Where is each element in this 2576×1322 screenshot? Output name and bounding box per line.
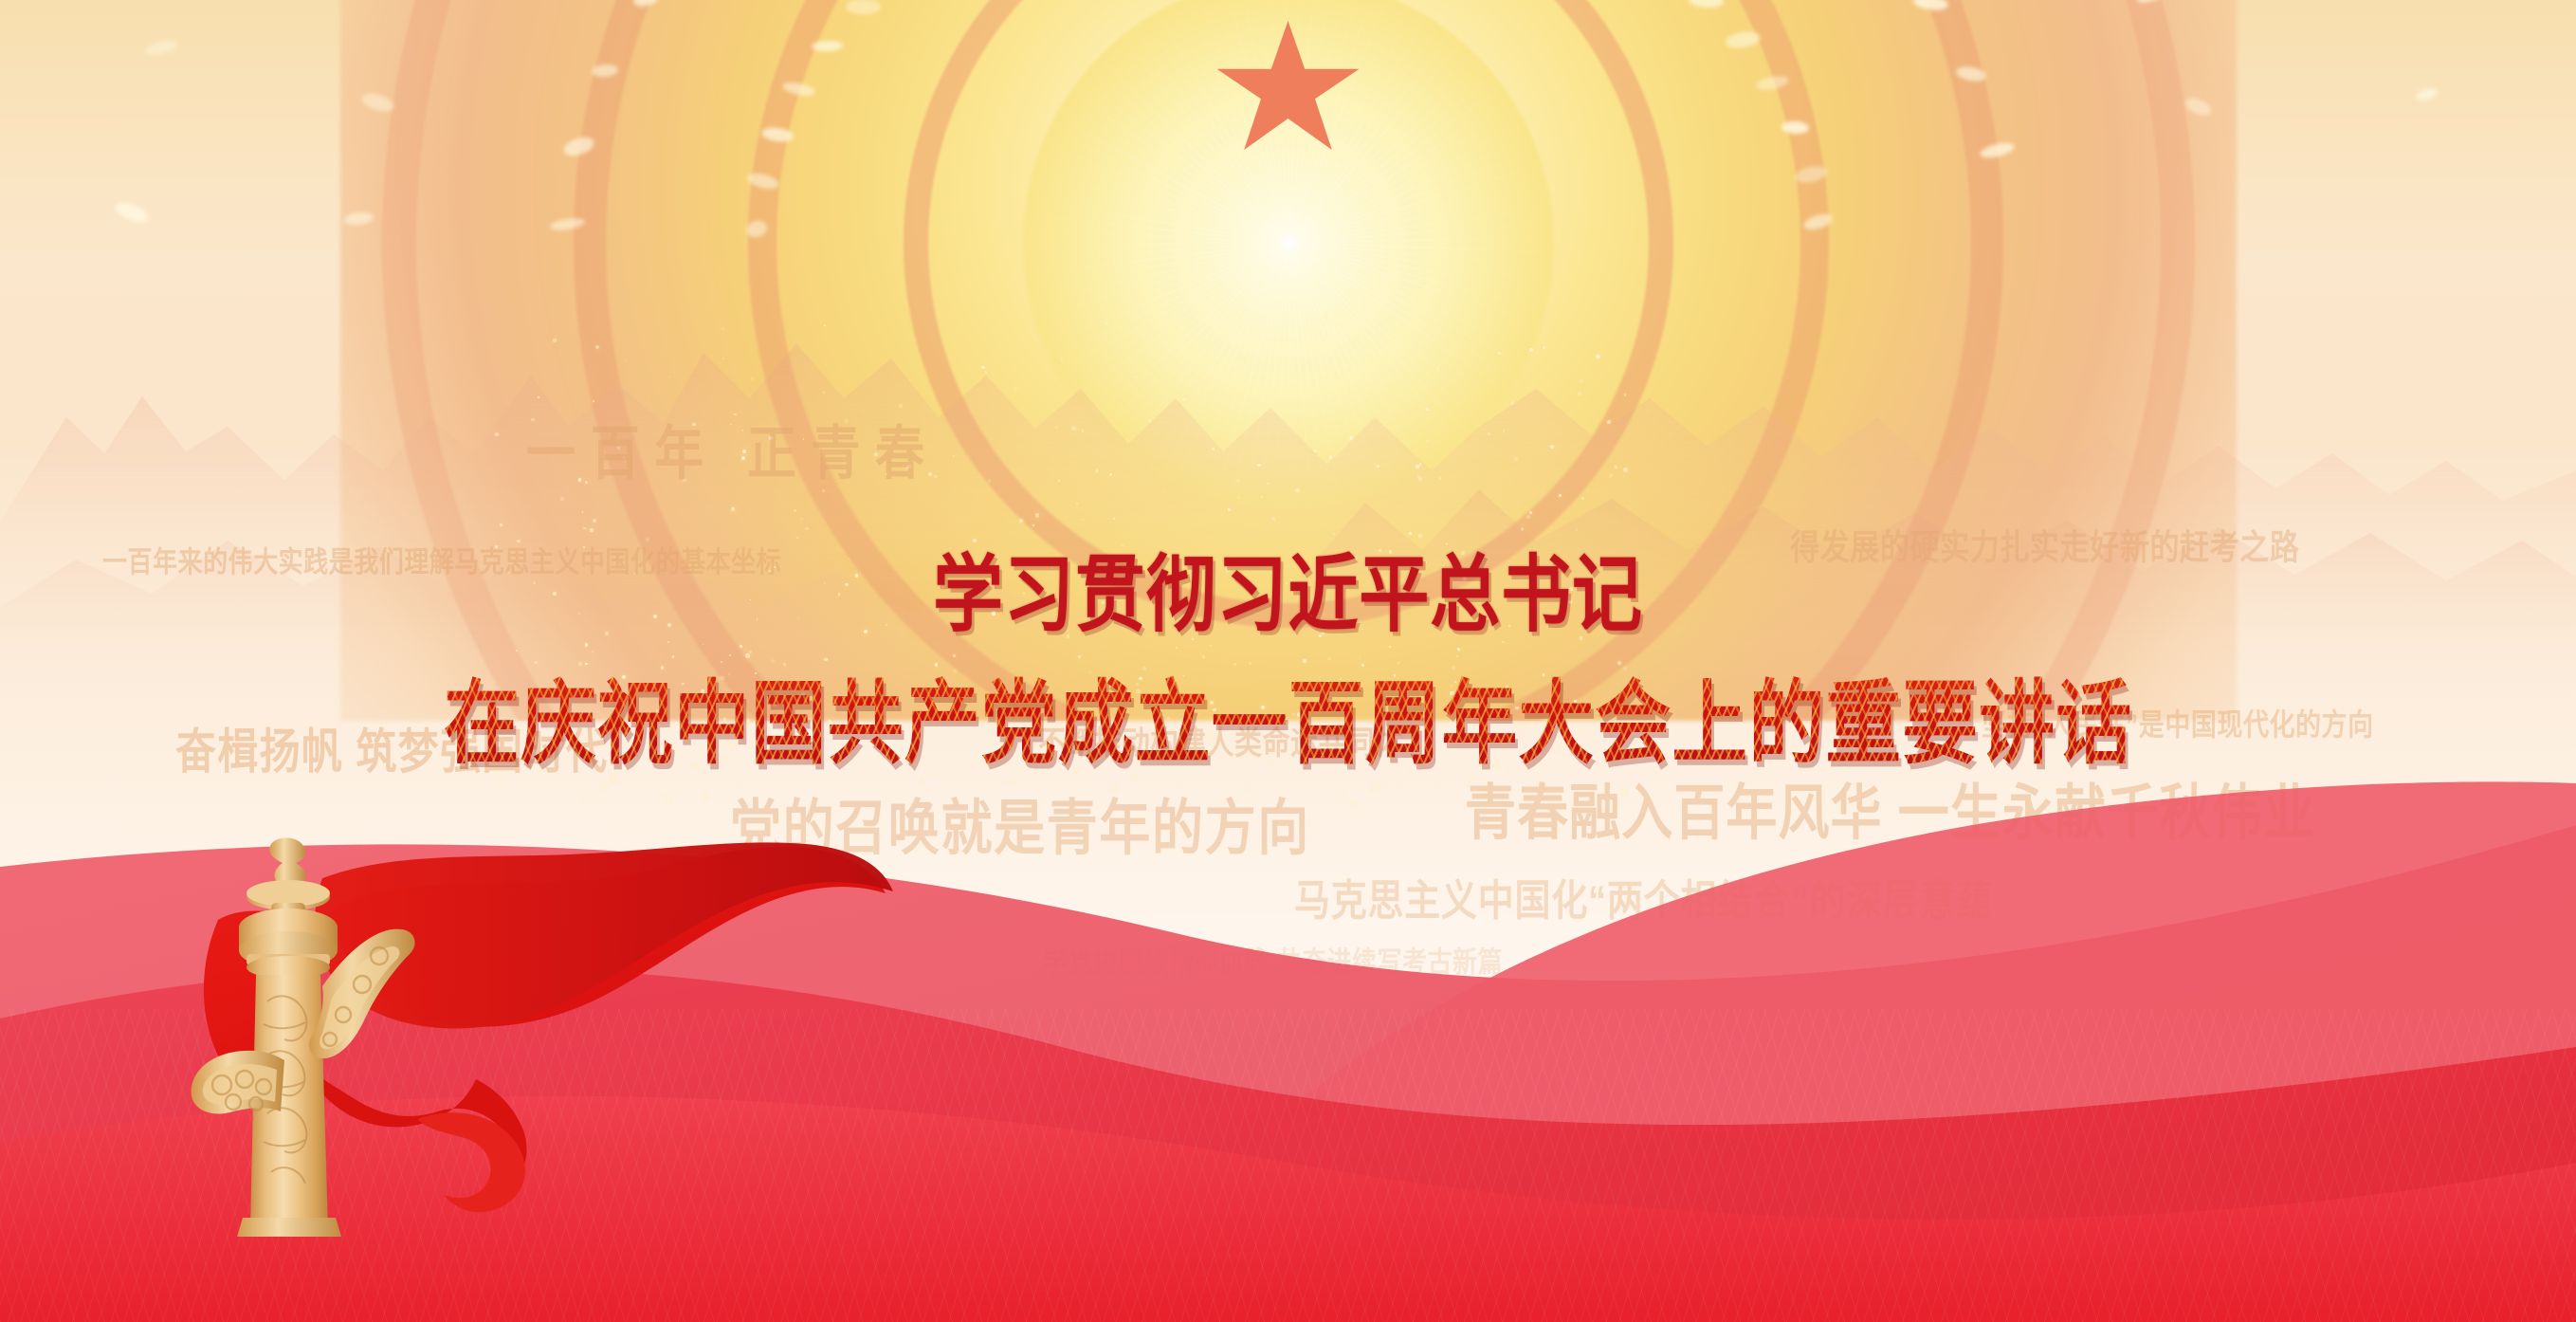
light-dot (360, 90, 396, 115)
huabiao-and-flag-emblem (180, 835, 901, 1242)
light-dot (744, 219, 769, 240)
light-dot (1793, 163, 1827, 185)
light-dot (760, 125, 795, 143)
light-dot (1955, 65, 1987, 84)
light-dot (1801, 211, 1834, 233)
light-dot (144, 38, 178, 58)
light-dot (746, 171, 780, 192)
watermark-text-1: 一百年 正青春 (526, 406, 940, 490)
light-dot (1979, 139, 2016, 160)
title-line-1: 学习贯彻习近平总书记 (0, 526, 2576, 648)
light-dot (113, 199, 151, 227)
light-dot (2135, 0, 2173, 6)
light-dot (2183, 95, 2214, 119)
light-dot (550, 216, 586, 232)
light-dot (1725, 30, 1762, 51)
light-dot (2415, 86, 2439, 102)
light-dot (812, 41, 843, 52)
light-dot (846, 0, 881, 14)
light-dot (1781, 121, 1810, 135)
light-dot (343, 211, 375, 227)
light-dot (1688, 0, 1724, 9)
light-dot (781, 80, 816, 98)
light-dot (632, 0, 661, 9)
light-dot (1912, 0, 1948, 11)
light-dot (592, 64, 619, 78)
poster-canvas: 一百年 正青春一百年来的伟大实践是我们理解马克思主义中国化的基本坐标得发展的硬实… (0, 0, 2576, 1322)
light-dot (1755, 74, 1790, 93)
light-dot (561, 134, 595, 158)
